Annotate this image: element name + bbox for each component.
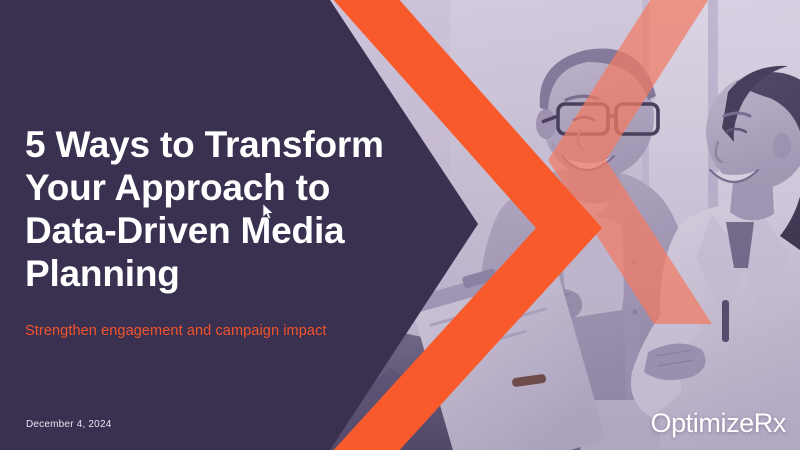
hero-photo bbox=[330, 0, 800, 450]
title-line-4: Planning bbox=[25, 253, 180, 294]
title-block: 5 Ways to Transform Your Approach to Dat… bbox=[25, 123, 385, 341]
title-line-2: Your Approach to bbox=[25, 167, 330, 208]
slide-date: December 4, 2024 bbox=[26, 419, 111, 430]
mouse-pointer-icon bbox=[262, 203, 274, 220]
title-line-3: Data-Driven Media bbox=[25, 210, 344, 251]
optimizerx-logo: OptimizeRx bbox=[650, 408, 786, 438]
hero-photo-illustration bbox=[330, 0, 800, 450]
presentation-slide: 5 Ways to Transform Your Approach to Dat… bbox=[0, 0, 800, 450]
title-line-1: 5 Ways to Transform bbox=[25, 124, 384, 165]
page-subtitle: Strengthen engagement and campaign impac… bbox=[25, 321, 385, 341]
page-title: 5 Ways to Transform Your Approach to Dat… bbox=[25, 123, 385, 295]
